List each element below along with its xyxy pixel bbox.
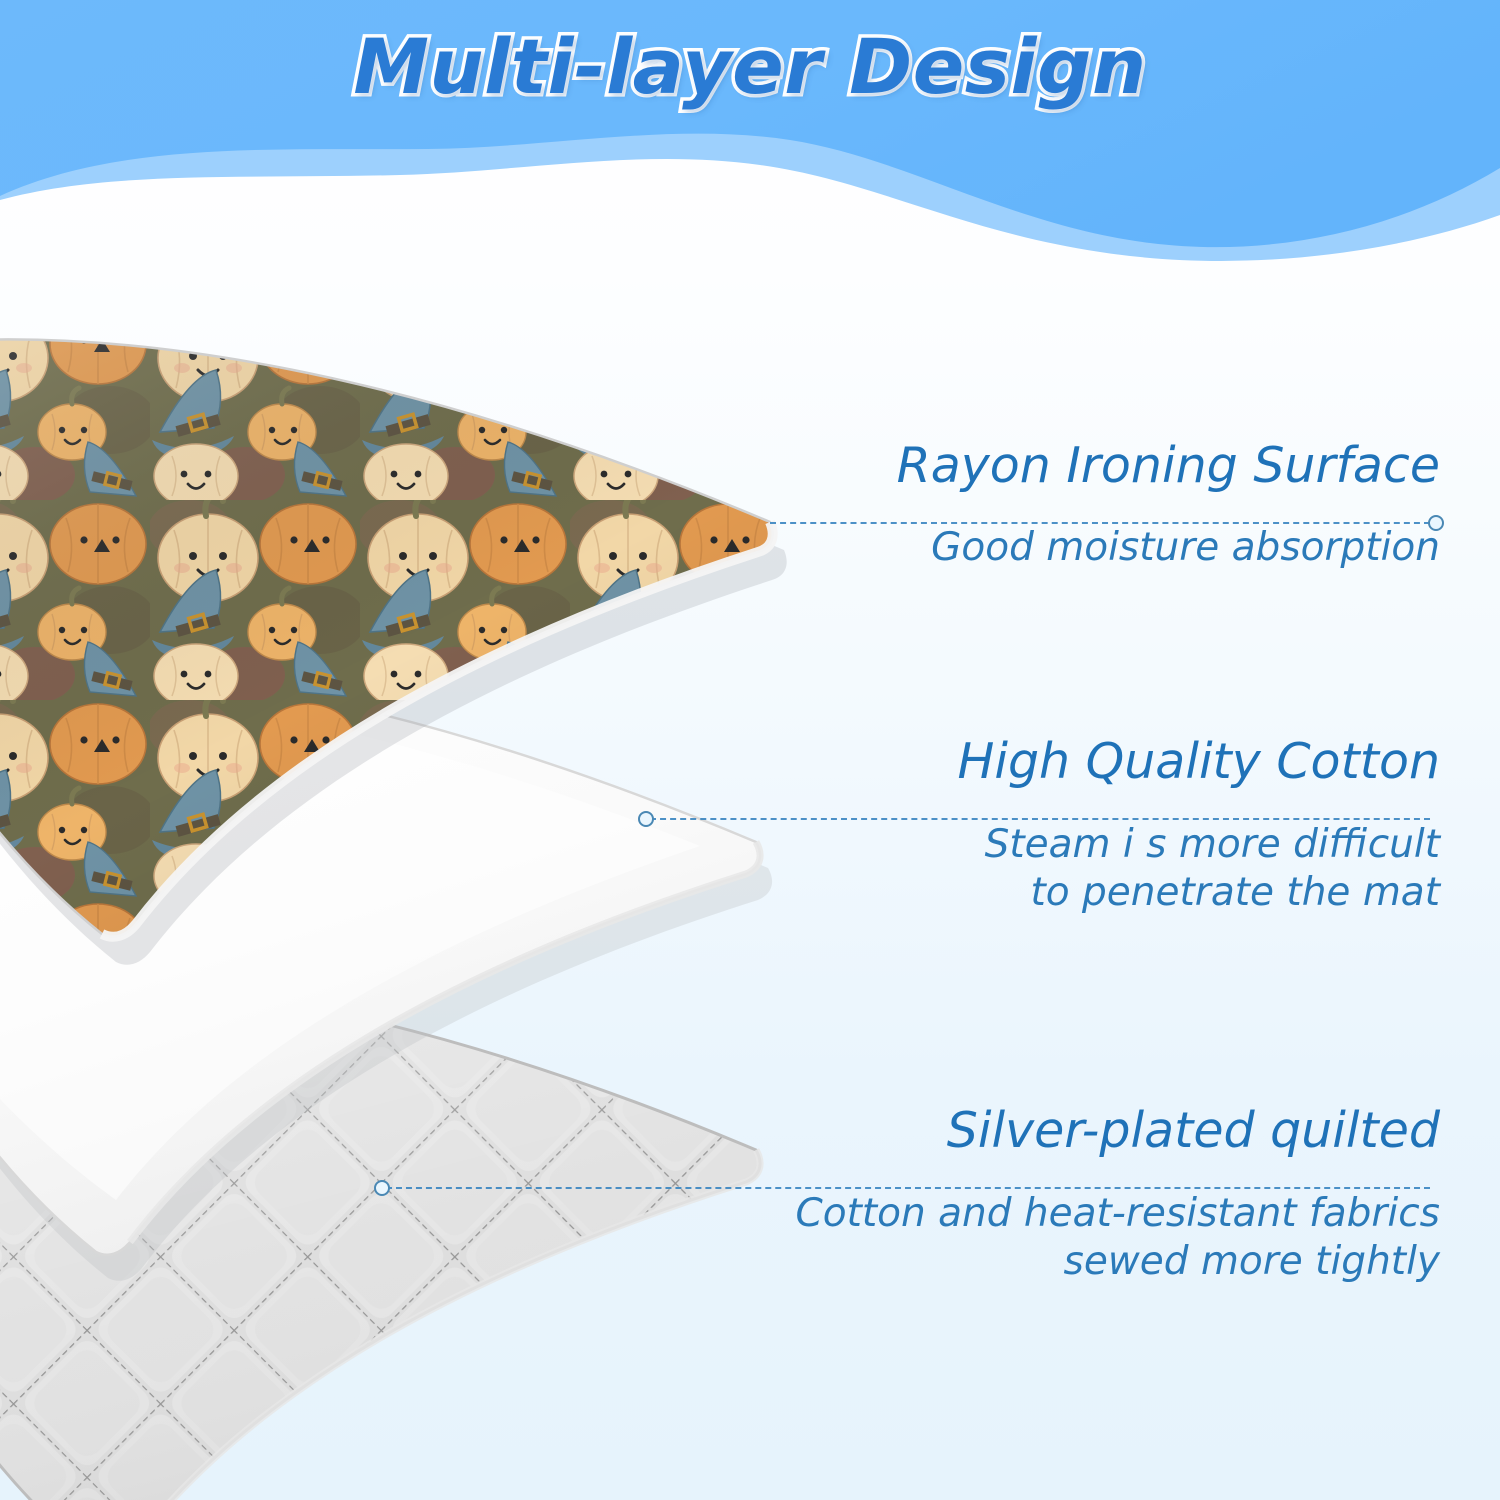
callout-high-quality-cotton: High Quality Cotton Steam i s more diffi… xyxy=(740,736,1440,916)
callout-title-1: Rayon Ironing Surface xyxy=(740,440,1440,492)
callout-description-3-line-2: sewed more tightly xyxy=(740,1238,1440,1286)
callout-description-3: Cotton and heat-resistant fabrics sewed … xyxy=(740,1190,1440,1285)
product-layer-stack xyxy=(0,300,840,1430)
callout-silver-plated-quilted: Silver-plated quilted Cotton and heat-re… xyxy=(740,1105,1440,1285)
callout-title-3: Silver-plated quilted xyxy=(740,1105,1440,1157)
header-banner: Multi-layer Design xyxy=(0,0,1500,270)
callout-description-1: Good moisture absorption xyxy=(740,524,1440,572)
callout-title-2: High Quality Cotton xyxy=(740,736,1440,788)
callout-rayon-ironing-surface: Rayon Ironing Surface Good moisture abso… xyxy=(740,440,1440,572)
callout-description-3-line-1: Cotton and heat-resistant fabrics xyxy=(740,1190,1440,1238)
header-wave-main xyxy=(0,0,1500,247)
callout-description-2: Steam i s more difficult to penetrate th… xyxy=(740,821,1440,916)
callout-description-2-line-1: Steam i s more difficult xyxy=(740,821,1440,869)
callout-description-2-line-2: to penetrate the mat xyxy=(740,869,1440,917)
callout-description-1-line-1: Good moisture absorption xyxy=(740,524,1440,572)
infographic-canvas: Multi-layer Design xyxy=(0,0,1500,1500)
connector-endpoint-2 xyxy=(638,811,654,827)
connector-endpoint-3 xyxy=(374,1180,390,1196)
